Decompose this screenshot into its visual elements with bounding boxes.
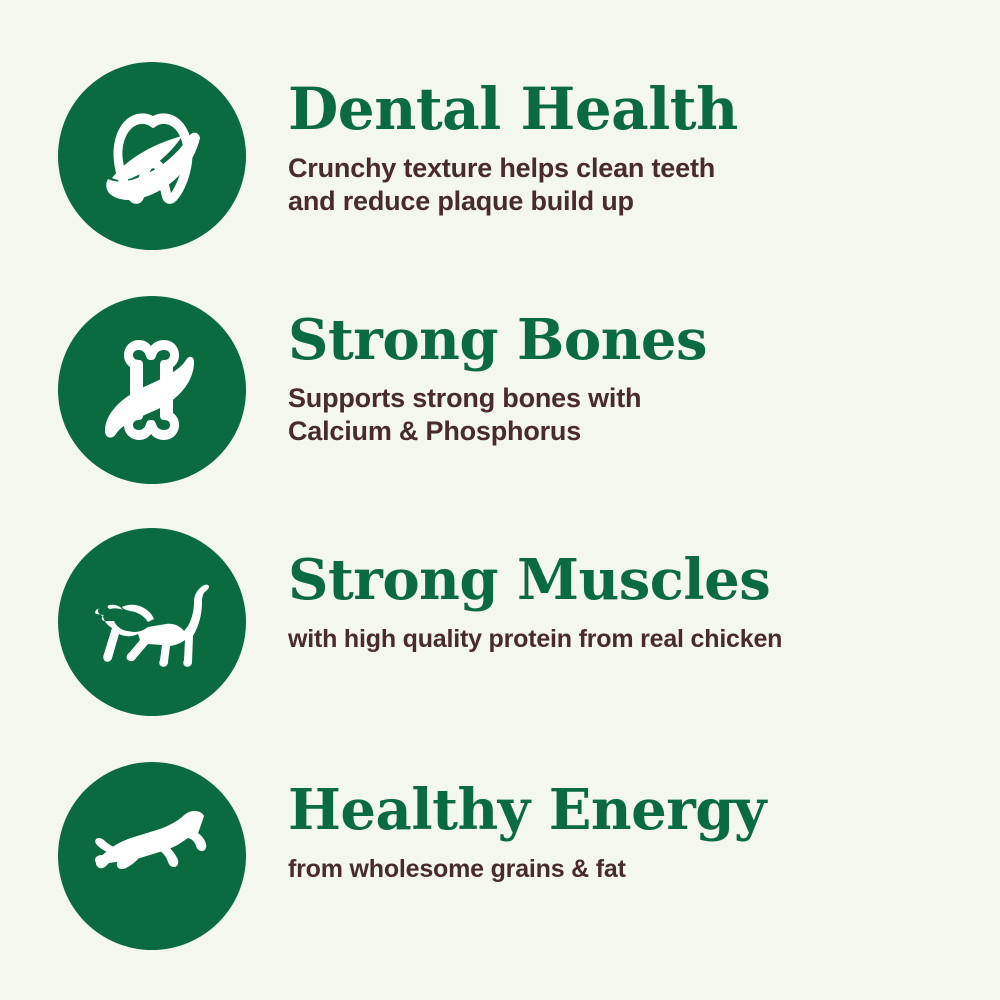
feature-title: Dental Health (288, 80, 988, 138)
tooth-leaf-icon (82, 86, 222, 226)
benefits-panel: Dental Health Crunchy texture helps clea… (0, 0, 1000, 1000)
feature-text-dental-health: Dental Health Crunchy texture helps clea… (288, 80, 988, 218)
feature-subtitle-line: Supports strong bones with (288, 382, 988, 415)
feature-subtitle: with high quality protein from real chic… (288, 624, 988, 655)
feature-subtitle-line: from wholesome grains & fat (288, 854, 988, 885)
standing-dog-icon (82, 552, 222, 692)
feature-text-strong-muscles: Strong Muscles with high quality protein… (288, 552, 988, 655)
bone-leaf-icon (82, 320, 222, 460)
feature-subtitle: Crunchy texture helps clean teeth and re… (288, 152, 988, 218)
leaping-dog-icon-badge (58, 762, 246, 950)
feature-subtitle: from wholesome grains & fat (288, 854, 988, 885)
feature-subtitle-line: Crunchy texture helps clean teeth (288, 152, 988, 185)
feature-subtitle-line: with high quality protein from real chic… (288, 624, 988, 655)
feature-title: Strong Bones (288, 312, 988, 368)
tooth-leaf-icon-badge (58, 62, 246, 250)
feature-title: Healthy Energy (288, 782, 988, 838)
feature-subtitle: Supports strong bones with Calcium & Pho… (288, 382, 988, 448)
feature-title: Strong Muscles (288, 552, 988, 608)
bone-leaf-icon-badge (58, 296, 246, 484)
feature-subtitle-line: and reduce plaque build up (288, 185, 988, 218)
leaping-dog-icon (82, 786, 222, 926)
standing-dog-icon-badge (58, 528, 246, 716)
feature-subtitle-line: Calcium & Phosphorus (288, 415, 988, 448)
feature-text-healthy-energy: Healthy Energy from wholesome grains & f… (288, 782, 988, 885)
feature-text-strong-bones: Strong Bones Supports strong bones with … (288, 312, 988, 448)
